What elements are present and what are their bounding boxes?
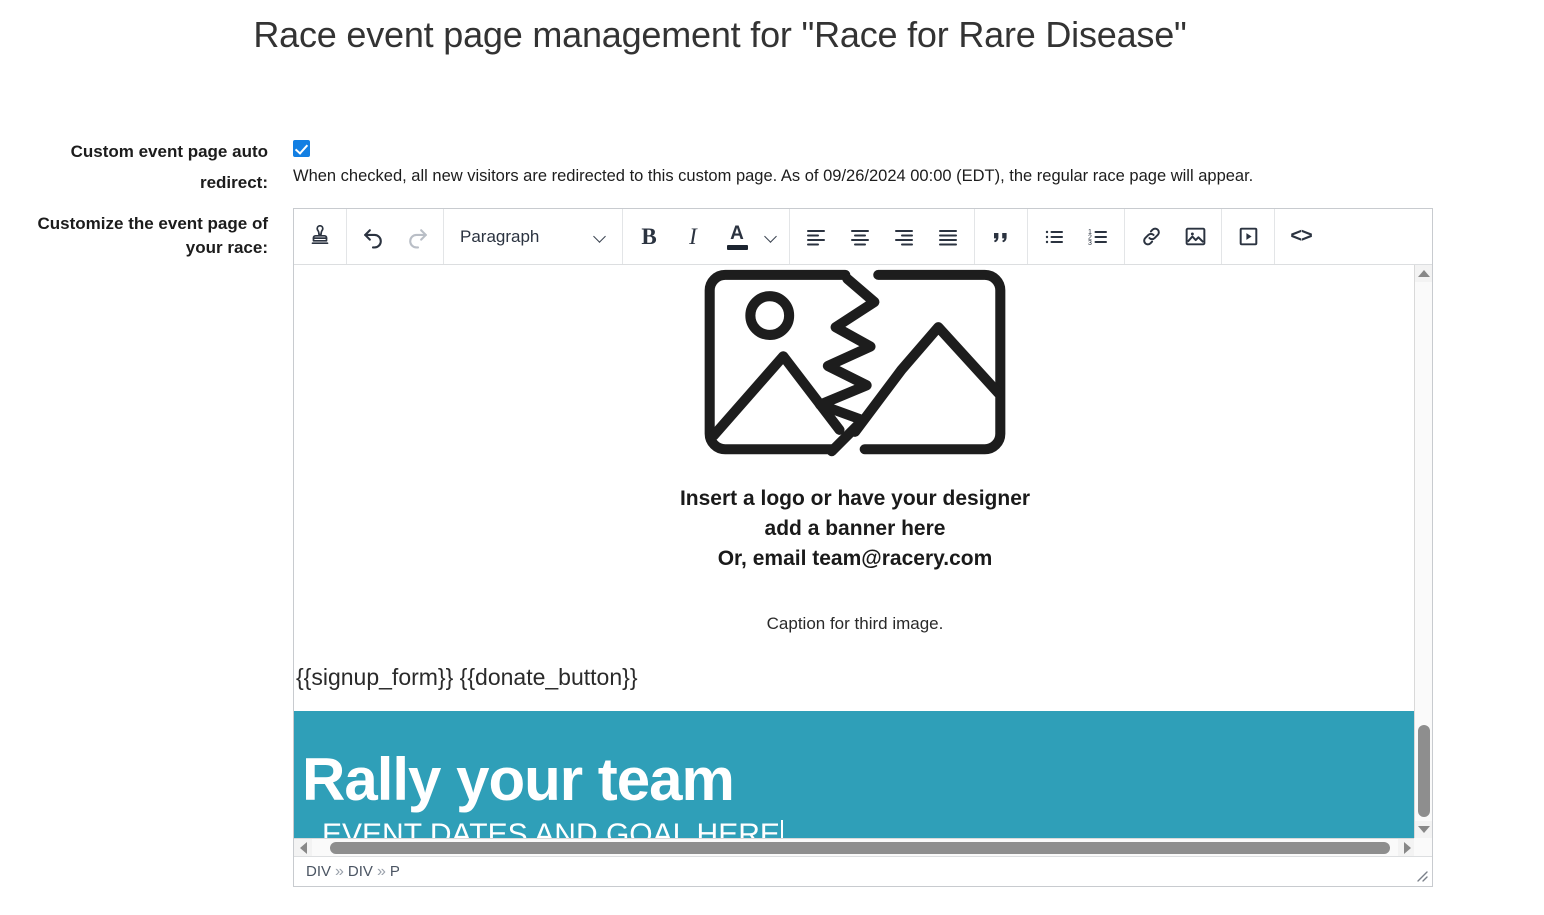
alt-text-line-1: Insert a logo or have your designer [294,484,1416,514]
toolbar-group-format: Paragraph [444,209,623,264]
toolbar-group-lists: 1 2 3 [1028,209,1125,264]
scrollbar-corner [1414,838,1432,856]
blockquote-icon[interactable] [979,215,1023,259]
editor-body: Insert a logo or have your designer add … [294,265,1432,856]
chevron-down-icon [765,232,779,241]
toolbar-group-history [347,209,444,264]
auto-redirect-label: Custom event page auto redirect: [18,136,268,198]
align-left-icon[interactable] [794,215,838,259]
element-path-1[interactable]: DIV [348,863,373,880]
element-path-separator: » [373,863,390,881]
auto-redirect-body: When checked, all new visitors are redir… [293,136,1393,198]
banner-subtitle: EVENT DATES AND GOAL HERE [294,817,783,838]
editor-horizontal-scrollbar[interactable] [294,838,1416,856]
scroll-down-icon[interactable] [1415,821,1432,838]
toolbar-group-insert [1125,209,1222,264]
image-caption: Caption for third image. [294,614,1416,634]
page-root: Race event page management for "Race for… [0,0,1544,915]
rich-text-editor-wrapper: Paragraph B I A [293,208,1433,887]
form-row-auto-redirect: Custom event page auto redirect: When ch… [18,136,1393,198]
toolbar-group-blockquote [975,209,1028,264]
numbered-list-icon[interactable]: 1 2 3 [1076,215,1120,259]
paragraph-format-select[interactable]: Paragraph [448,215,618,259]
bold-label: B [641,224,656,250]
paragraph-format-value: Paragraph [460,227,539,247]
editor-document: Insert a logo or have your designer add … [294,265,1416,838]
editor-status-bar: DIV » DIV » P [294,856,1432,886]
redo-icon[interactable] [395,215,439,259]
element-path-separator: » [331,863,348,881]
auto-redirect-checkbox[interactable] [293,140,310,157]
editor-content-canvas[interactable]: Insert a logo or have your designer add … [294,265,1416,838]
scroll-up-icon[interactable] [1415,265,1432,282]
rich-text-editor: Paragraph B I A [293,208,1433,887]
template-tags-paragraph: {{signup_form}} {{donate_button}} [294,664,1416,691]
toolbar-group-alignment [790,209,975,264]
font-color-label: A [730,224,744,243]
chevron-down-icon [594,232,608,241]
italic-button[interactable]: I [671,215,715,259]
text-cursor [781,820,783,838]
form-row-customize-event-page: Customize the event page of your race: [18,208,1433,887]
broken-image-icon [700,265,1010,464]
banner-subtitle-text: EVENT DATES AND GOAL HERE [322,818,780,838]
align-center-icon[interactable] [838,215,882,259]
link-icon[interactable] [1129,215,1173,259]
italic-label: I [689,224,697,250]
font-color-dropdown-icon[interactable] [759,215,785,259]
element-path-0[interactable]: DIV [306,863,331,880]
image-icon[interactable] [1173,215,1217,259]
toolbar-group-source: <> [1275,209,1327,264]
toolbar-group-media [1222,209,1275,264]
source-code-icon[interactable]: <> [1279,215,1323,259]
font-color-icon[interactable]: A [715,215,759,259]
horizontal-scrollbar-thumb[interactable] [330,842,1390,854]
editor-resize-handle[interactable] [1413,867,1429,883]
vertical-scrollbar-thumb[interactable] [1418,725,1430,817]
page-title: Race event page management for "Race for… [0,14,1440,56]
undo-icon[interactable] [351,215,395,259]
bold-button[interactable]: B [627,215,671,259]
bullet-list-icon[interactable] [1032,215,1076,259]
scroll-left-icon[interactable] [294,839,312,856]
source-code-label: <> [1290,225,1311,248]
banner-title: Rally your team [294,749,1416,811]
toolbar-group-text-style: B I A [623,209,790,264]
broken-image-alt-text: Insert a logo or have your designer add … [294,484,1416,574]
auto-redirect-help-text: When checked, all new visitors are redir… [293,166,1393,186]
editor-toolbar: Paragraph B I A [294,209,1432,265]
customize-event-page-label: Customize the event page of your race: [18,208,268,887]
element-path-2[interactable]: P [390,863,400,880]
align-right-icon[interactable] [882,215,926,259]
alt-text-line-2: add a banner here [294,514,1416,544]
editor-vertical-scrollbar[interactable] [1414,265,1432,838]
font-color-swatch [727,245,748,250]
media-play-icon[interactable] [1226,215,1270,259]
alt-text-line-3: Or, email team@racery.com [294,544,1416,574]
stamp-icon[interactable] [298,215,342,259]
svg-text:3: 3 [1088,240,1092,247]
toolbar-group-stamp [294,209,347,264]
align-justify-icon[interactable] [926,215,970,259]
rally-banner: Rally your team EVENT DATES AND GOAL HER… [294,711,1416,838]
